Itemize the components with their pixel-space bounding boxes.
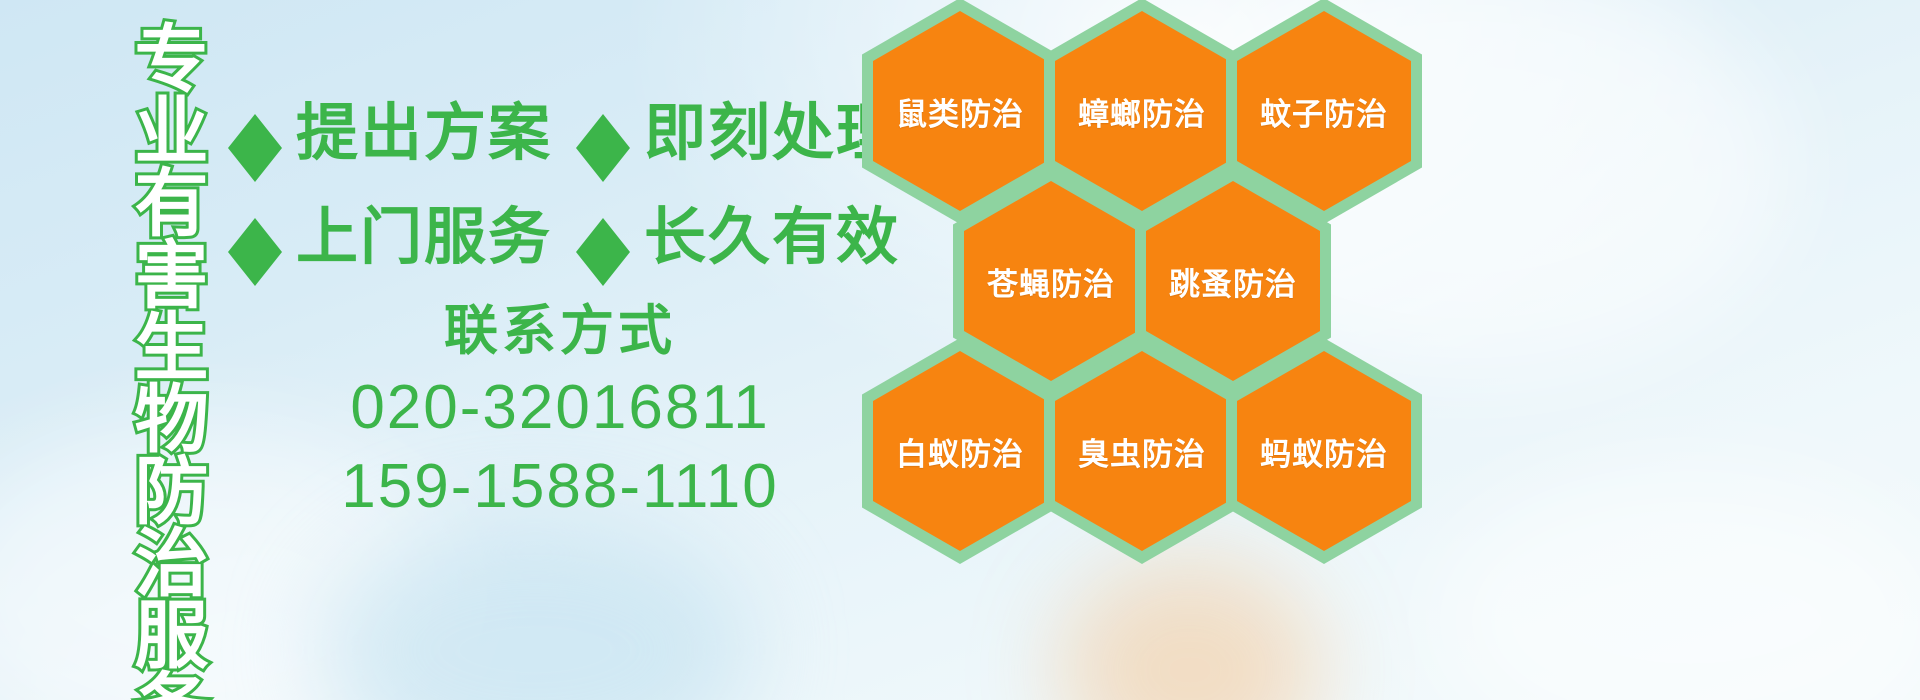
feature-list: 提出方案 即刻处理 上门服务 长久有效 bbox=[228, 82, 868, 290]
vertical-title: 专业有害生物防治服务 bbox=[104, 20, 200, 700]
hex-label: 蚊子防治 bbox=[1260, 89, 1388, 134]
hex-label: 鼠类防治 bbox=[896, 89, 1024, 134]
hex-label: 白蚁防治 bbox=[896, 429, 1024, 474]
hex-label: 跳蚤防治 bbox=[1169, 259, 1297, 304]
feature-item-immediate-handling: 即刻处理 bbox=[576, 103, 900, 165]
hex-label: 蟑螂防治 bbox=[1078, 89, 1206, 134]
diamond-icon bbox=[228, 87, 282, 148]
phone-number-mobile[interactable]: 159-1588-1110 bbox=[250, 447, 870, 526]
background-glow-bottom-center bbox=[320, 520, 750, 700]
feature-item-long-lasting: 长久有效 bbox=[576, 207, 900, 269]
feature-label: 上门服务 bbox=[296, 207, 552, 269]
feature-label: 提出方案 bbox=[296, 103, 552, 165]
hex-label: 苍蝇防治 bbox=[987, 259, 1115, 304]
hex-label: 臭虫防治 bbox=[1078, 429, 1206, 474]
feature-item-on-site-service: 上门服务 bbox=[228, 207, 552, 269]
feature-row: 上门服务 长久有效 bbox=[228, 186, 868, 290]
service-hexagon-grid: 鼠类防治 蟑螂防治 蚊子防治 苍蝇防治 跳蚤防治 白蚁防治 臭虫防治 蚂蚁 bbox=[862, 0, 1462, 552]
hex-label: 蚂蚁防治 bbox=[1260, 429, 1388, 474]
diamond-icon bbox=[576, 191, 630, 252]
background-glow-orange bbox=[1060, 560, 1320, 700]
diamond-icon bbox=[228, 191, 282, 252]
contact-block: 联系方式 020-32016811 159-1588-1110 bbox=[250, 300, 870, 527]
diamond-icon bbox=[576, 87, 630, 148]
background-glow-bottom-right bbox=[1430, 470, 1920, 700]
contact-heading: 联系方式 bbox=[250, 300, 870, 362]
pest-control-banner: 专业有害生物防治服务 提出方案 即刻处理 上门服务 长久有效 联系方式 bbox=[0, 0, 1920, 700]
feature-row: 提出方案 即刻处理 bbox=[228, 82, 868, 186]
phone-number-landline[interactable]: 020-32016811 bbox=[250, 368, 870, 447]
feature-item-propose-plan: 提出方案 bbox=[228, 103, 552, 165]
